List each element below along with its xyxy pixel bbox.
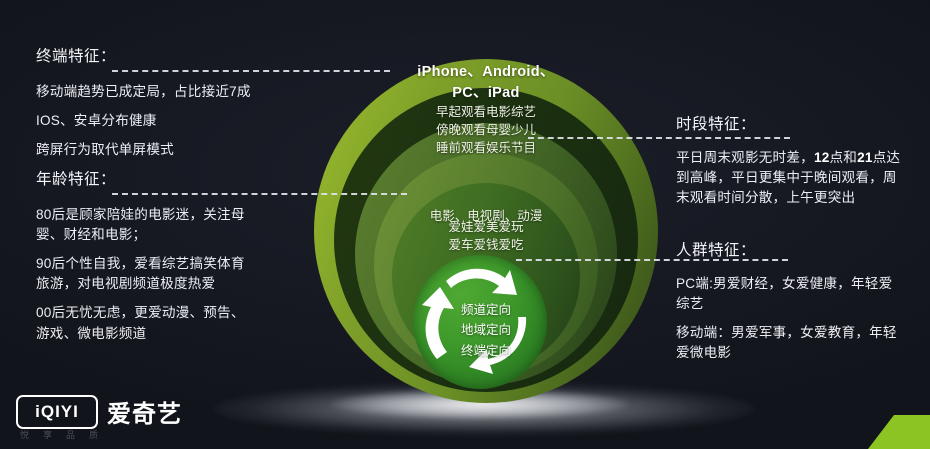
center-device-line2: PC、iPad	[417, 83, 554, 104]
center-timeband-line1: 早起观看电影综艺	[436, 104, 536, 122]
ground-glow-core	[330, 389, 630, 419]
center-device-line1: iPhone、Android、	[417, 62, 554, 83]
block-timeband-features: 时段特征： 平日周末观影无时差，12点和21点达到高峰，平日更集中于晚间观看，周…	[676, 112, 902, 208]
block-timeband-paragraph: 平日周末观影无时差，12点和21点达到高峰，平日更集中于晚间观看，周末观看时间分…	[676, 148, 902, 208]
block-terminal-line-2: 跨屏行为取代单屏模式	[36, 140, 336, 160]
center-targeting-line1: 频道定向	[461, 300, 511, 320]
center-timeband-line2: 傍晚观看母婴少儿	[436, 122, 536, 140]
center-interest-label: 爱娃爱美爱玩 爱车爱钱爱吃	[448, 219, 523, 255]
block-terminal-line-0: 移动端趋势已成定局，占比接近7成	[36, 82, 336, 102]
iqiyi-logo-mark: iQIYI	[16, 395, 98, 429]
center-timeband-label: 早起观看电影综艺 傍晚观看母婴少儿 睡前观看娱乐节目	[436, 104, 536, 157]
center-timeband-line3: 睡前观看娱乐节目	[436, 140, 536, 158]
block-crowd-line-1: 移动端：男爱军事，女爱教育，年轻爱微电影	[676, 323, 904, 363]
block-terminal-line-1: IOS、安卓分布健康	[36, 111, 336, 131]
block-age-line-0: 80后是顾家陪娃的电影迷，关注母婴、财经和电影；	[36, 205, 248, 245]
block-crowd-line-0: PC端:男爱财经，女爱健康，年轻爱综艺	[676, 274, 904, 314]
center-targeting-line3: 终端定向	[461, 341, 511, 361]
block-terminal-features: 终端特征： 移动端趋势已成定局，占比接近7成 IOS、安卓分布健康 跨屏行为取代…	[36, 44, 336, 160]
block-age-body: 80后是顾家陪娃的电影迷，关注母婴、财经和电影； 90后个性自我，爱看综艺搞笑体…	[36, 205, 248, 344]
center-targeting-label: 频道定向 地域定向 终端定向	[461, 300, 511, 361]
block-age-features: 年龄特征： 80后是顾家陪娃的电影迷，关注母婴、财经和电影； 90后个性自我，爱…	[36, 167, 248, 344]
iqiyi-logo-tagline: 悦享品质	[20, 428, 112, 441]
iqiyi-logo-wordmark: 爱奇艺	[107, 394, 182, 429]
accent-chevron-shape	[842, 415, 930, 449]
block-age-line-2: 00后无忧无虑，更爱动漫、预告、游戏、微电影频道	[36, 303, 248, 343]
block-timeband-title: 时段特征：	[676, 112, 902, 134]
infographic-slide: iPhone、Android、 PC、iPad 早起观看电影综艺 傍晚观看母婴少…	[0, 0, 930, 449]
block-terminal-body: 移动端趋势已成定局，占比接近7成 IOS、安卓分布健康 跨屏行为取代单屏模式	[36, 82, 336, 160]
block-crowd-title: 人群特征：	[676, 238, 904, 260]
block-age-title: 年龄特征：	[36, 167, 248, 189]
block-timeband-body: 平日周末观影无时差，12点和21点达到高峰，平日更集中于晚间观看，周末观看时间分…	[676, 148, 902, 208]
block-crowd-features: 人群特征： PC端:男爱财经，女爱健康，年轻爱综艺 移动端：男爱军事，女爱教育，…	[676, 238, 904, 363]
center-interest-line1: 爱娃爱美爱玩	[448, 219, 523, 237]
center-device-label: iPhone、Android、 PC、iPad	[417, 62, 554, 103]
block-crowd-body: PC端:男爱财经，女爱健康，年轻爱综艺 移动端：男爱军事，女爱教育，年轻爱微电影	[676, 274, 904, 363]
ground-glow	[214, 383, 754, 435]
block-age-line-1: 90后个性自我，爱看综艺搞笑体育旅游，对电视剧频道极度热爱	[36, 254, 248, 294]
block-terminal-title: 终端特征：	[36, 44, 336, 66]
center-interest-line2: 爱车爱钱爱吃	[448, 237, 523, 255]
iqiyi-logo: iQIYI 爱奇艺	[16, 394, 182, 429]
center-targeting-line2: 地域定向	[461, 320, 511, 340]
